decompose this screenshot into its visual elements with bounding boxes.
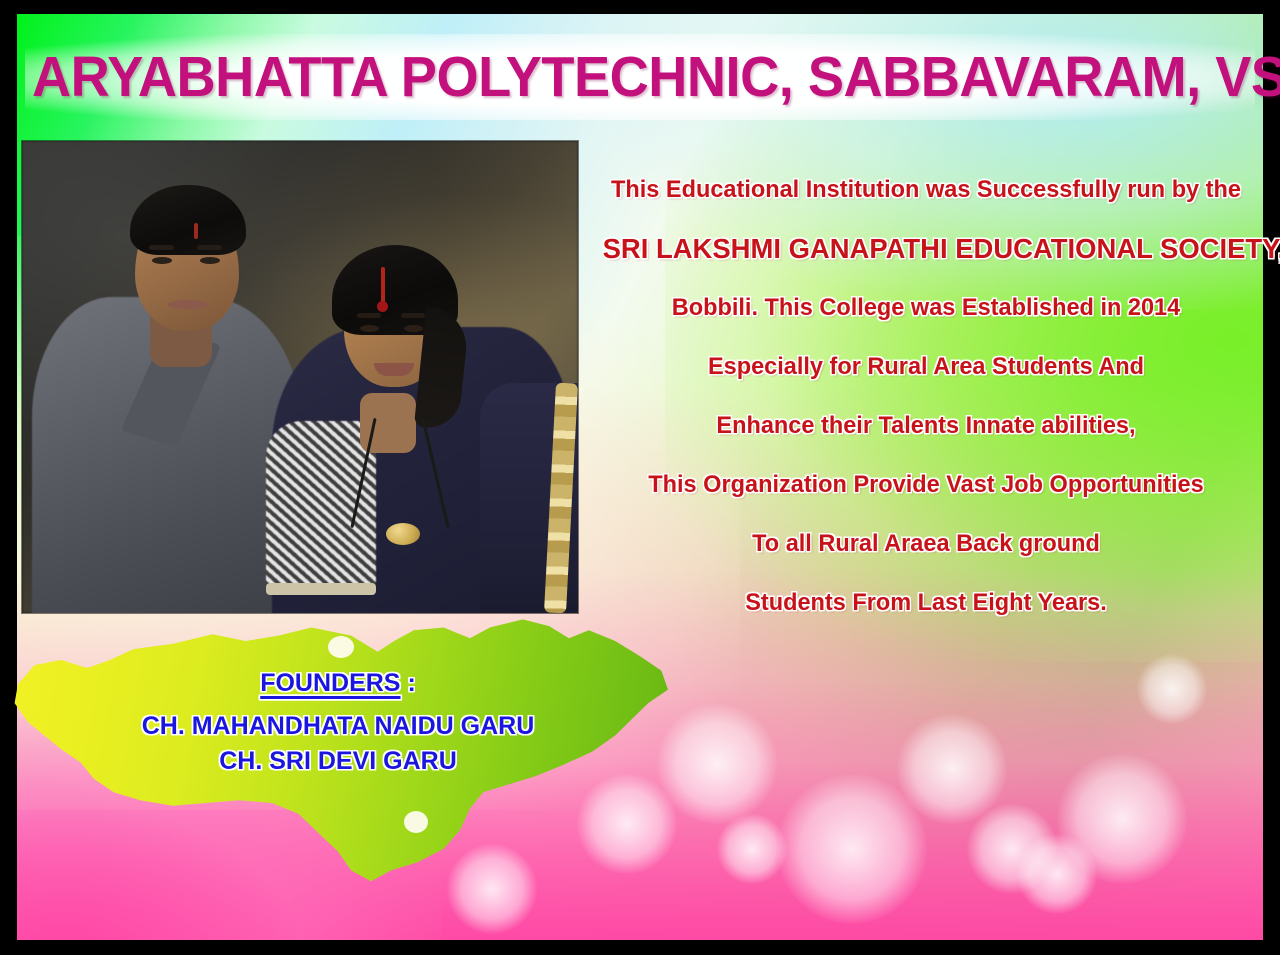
description-line: Enhance their Talents Innate abilities,	[603, 396, 1250, 455]
map-hole	[404, 811, 428, 833]
man-eyebrow-left	[149, 245, 174, 250]
page-title: ARYABHATTA POLYTECHNIC, SABBAVARAM, VSP …	[32, 44, 1248, 110]
founder-name: CH. MAHANDHATA NAIDU GARU	[8, 709, 668, 744]
state-map-graphic: FOUNDERS : CH. MAHANDHATA NAIDU GARU CH.…	[8, 614, 668, 884]
poster-canvas: ARYABHATTA POLYTECHNIC, SABBAVARAM, VSP …	[0, 0, 1280, 955]
description-line: Bobbili. This College was Established in…	[603, 278, 1250, 337]
man-eye-left	[152, 257, 172, 264]
description-line: This Educational Institution was Success…	[603, 160, 1250, 219]
woman-eyebrow-left	[357, 313, 381, 318]
founders-portrait-photo	[22, 141, 578, 613]
founder-name: CH. SRI DEVI GARU	[8, 744, 668, 779]
description-line: Students From Last Eight Years.	[603, 573, 1250, 632]
description-line-society: SRI LAKSHMI GANAPATHI EDUCATIONAL SOCIET…	[603, 219, 1250, 278]
woman-bindi	[377, 301, 388, 312]
institution-description: This Educational Institution was Success…	[596, 160, 1256, 632]
man-mouth	[168, 300, 208, 309]
woman-sindoor-mark	[381, 267, 385, 303]
woman-blouse-hem	[266, 583, 376, 595]
description-line: To all Rural Araea Back ground	[603, 514, 1250, 573]
founders-heading-colon: :	[401, 669, 416, 697]
woman-printed-blouse	[266, 421, 376, 591]
man-eyebrow-right	[197, 245, 222, 250]
founders-heading: FOUNDERS :	[8, 666, 668, 701]
woman-eyebrow-right	[401, 313, 425, 318]
description-line: This Organization Provide Vast Job Oppor…	[603, 455, 1250, 514]
man-eye-right	[200, 257, 220, 264]
founders-block: FOUNDERS : CH. MAHANDHATA NAIDU GARU CH.…	[8, 614, 668, 779]
woman-eye-right	[404, 325, 423, 332]
woman-mangalsutra-pendant	[386, 523, 420, 545]
woman-eye-left	[360, 325, 379, 332]
description-line: Especially for Rural Area Students And	[603, 337, 1250, 396]
man-tilak-mark	[194, 223, 198, 239]
founders-heading-label: FOUNDERS	[260, 669, 400, 697]
